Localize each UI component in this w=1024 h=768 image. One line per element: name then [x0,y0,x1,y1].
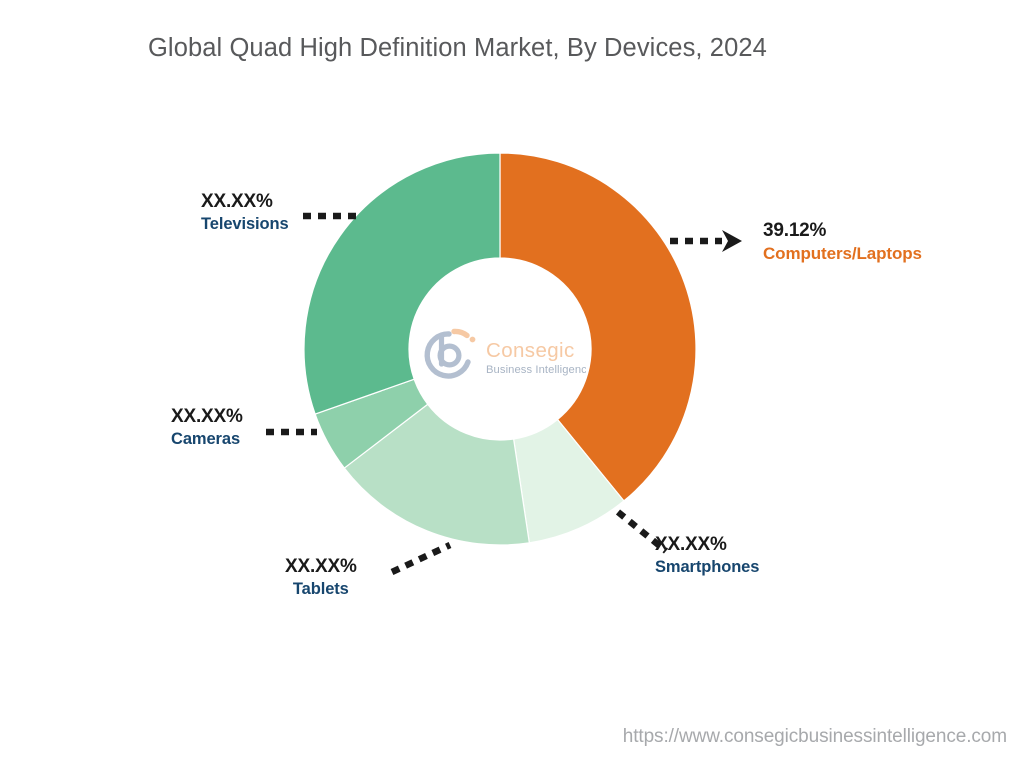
callout-computers: 39.12% Computers/Laptops [763,219,922,265]
callout-tablets-value: XX.XX% [285,555,357,579]
callout-smartphones-value: XX.XX% [655,533,759,557]
callout-cameras-value: XX.XX% [171,405,243,429]
donut-slice-televisions[interactable] [304,153,500,414]
donut-slice-group [304,153,696,545]
callout-cameras: XX.XX% Cameras [171,405,243,450]
callout-tablets: XX.XX% Tablets [285,555,357,600]
callout-computers-value: 39.12% [763,219,922,243]
callout-televisions-label: Televisions [201,214,289,235]
callout-televisions: XX.XX% Televisions [201,190,289,235]
callout-computers-label: Computers/Laptops [763,243,922,265]
footer-url: https://www.consegicbusinessintelligence… [623,726,1007,748]
donut-chart [0,0,1024,768]
leader-line-tablets [392,545,450,572]
callout-tablets-label: Tablets [285,579,357,600]
callout-smartphones-label: Smartphones [655,557,759,578]
callout-smartphones: XX.XX% Smartphones [655,533,759,578]
leader-arrow-computers [722,230,742,252]
callout-cameras-label: Cameras [171,429,243,450]
callout-televisions-value: XX.XX% [201,190,289,214]
